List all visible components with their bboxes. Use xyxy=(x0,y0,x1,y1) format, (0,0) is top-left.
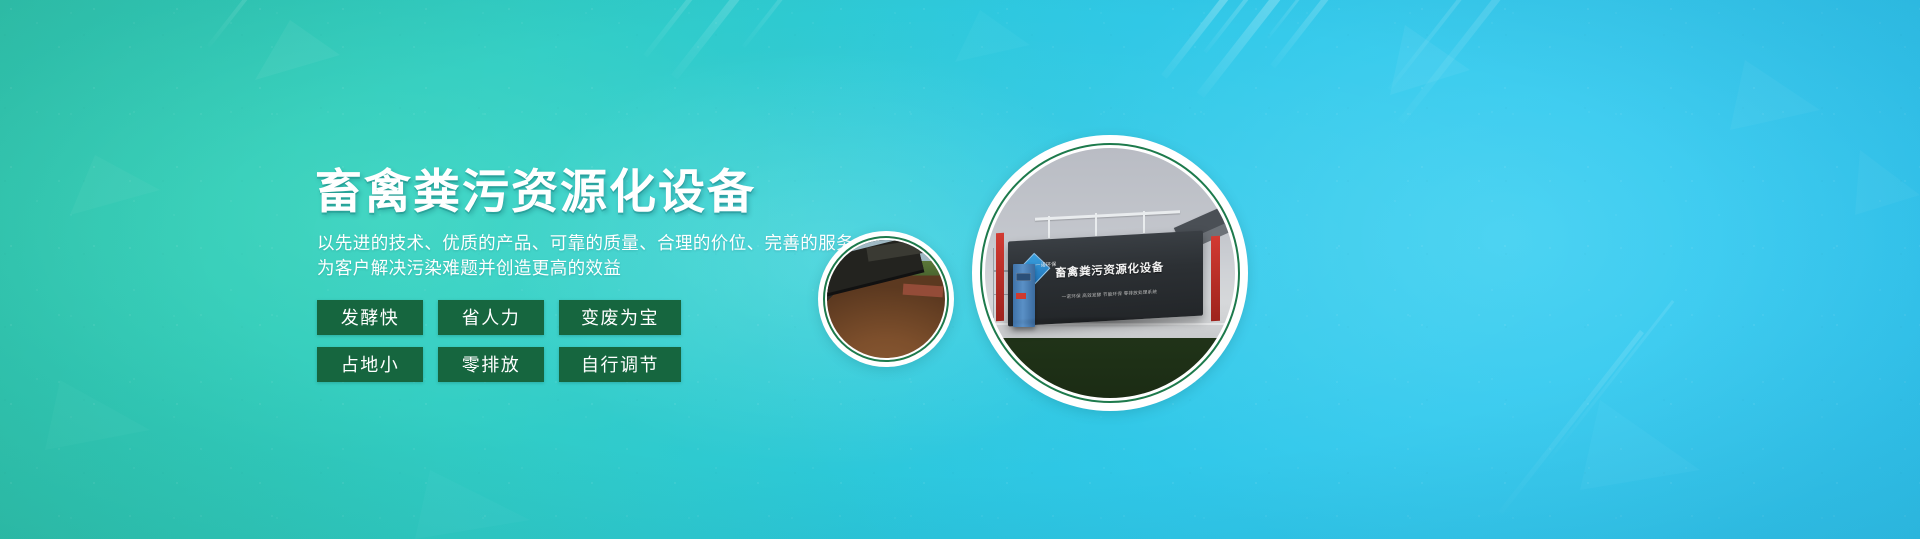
product-photo-compost-circle[interactable] xyxy=(818,231,954,367)
feature-chip-group: 发酵快 省人力 变废为宝 占地小 零排放 自行调节 xyxy=(317,300,665,382)
feature-chip-small-footprint[interactable]: 占地小 xyxy=(317,347,423,382)
rail-post-1 xyxy=(1048,216,1050,239)
machine-body: 一诺环保 畜禽粪污资源化设备 一诺环保 高效发酵 节能环保 零排放处理系统 xyxy=(1008,230,1203,326)
conveyor-belt-shape xyxy=(827,240,924,294)
feature-chip-labor-saving[interactable]: 省人力 xyxy=(438,300,544,335)
machine-render-photo: 一诺环保 畜禽粪污资源化设备 一诺环保 高效发酵 节能环保 零排放处理系统 xyxy=(985,148,1235,398)
machine-sublabel-text: 一诺环保 高效发酵 节能环保 零排放处理系统 xyxy=(1050,288,1167,301)
feature-chip-zero-emission[interactable]: 零排放 xyxy=(438,347,544,382)
background-roof-shape xyxy=(902,283,943,296)
feature-chip-self-adjusting[interactable]: 自行调节 xyxy=(559,347,681,382)
machine-label-text: 畜禽粪污资源化设备 xyxy=(1050,258,1167,281)
conveyor-belt-shape-2 xyxy=(866,240,940,262)
feature-chip-fermentation-speed[interactable]: 发酵快 xyxy=(317,300,423,335)
machine-end-cap-left xyxy=(996,233,1004,321)
background-vignette xyxy=(0,0,1920,539)
feature-chip-waste-to-treasure[interactable]: 变废为宝 xyxy=(559,300,681,335)
rail-post-2 xyxy=(1095,213,1097,236)
machine-3d-scene: 一诺环保 畜禽粪污资源化设备 一诺环保 高效发酵 节能环保 零排放处理系统 xyxy=(985,148,1235,398)
hero-banner: 畜禽粪污资源化设备 以先进的技术、优质的产品、可靠的质量、合理的价位、完善的服务… xyxy=(0,0,1920,539)
cabinet-red-button xyxy=(1016,293,1026,299)
page-title: 畜禽粪污资源化设备 xyxy=(315,168,955,216)
machine-end-cap-right xyxy=(1211,235,1220,320)
rail-post-3 xyxy=(1143,211,1145,234)
compost-photo xyxy=(827,240,945,358)
product-photo-machine-circle[interactable]: 一诺环保 畜禽粪污资源化设备 一诺环保 高效发酵 节能环保 零排放处理系统 xyxy=(972,135,1248,411)
compost-pile-image xyxy=(827,240,945,358)
cabinet-display-panel xyxy=(1016,273,1031,281)
machine-ground-shadow xyxy=(1005,316,1205,329)
overhead-rail xyxy=(1035,210,1180,220)
